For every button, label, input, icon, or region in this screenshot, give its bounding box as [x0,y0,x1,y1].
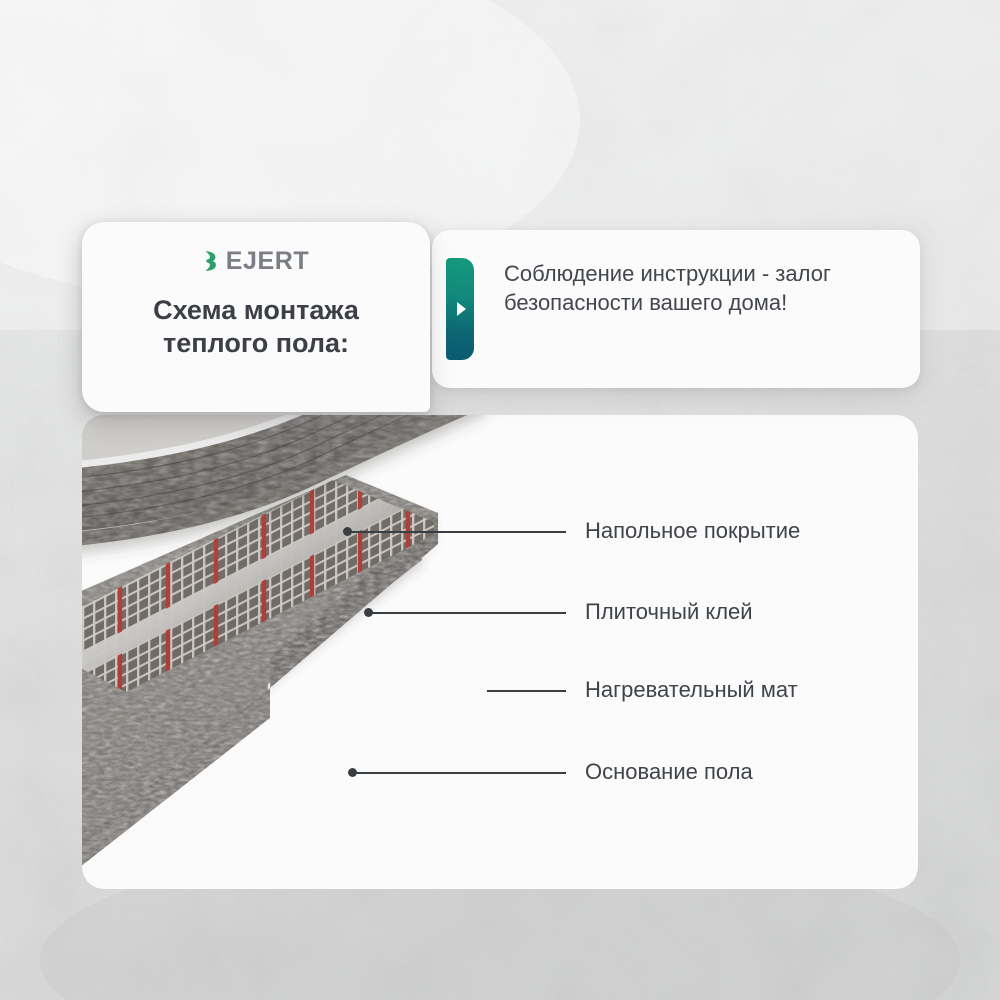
scheme-heading: Схема монтажа теплого пола: [82,294,430,360]
brand-wordmark: EJERT [226,249,310,274]
background-streaks [0,0,1000,1000]
poster-canvas: МОНТАЖ [0,0,1000,1000]
safety-notice-card: Соблюдение инструкции - залог безопаснос… [432,230,920,388]
notice-accent-bar [446,258,474,360]
safety-notice-text: Соблюдение инструкции - залог безопаснос… [504,260,898,317]
play-triangle-icon [457,302,466,316]
scheme-title-card-body: EJERT Схема монтажа теплого пола: [82,222,430,412]
page-title: МОНТАЖ [84,66,415,138]
brand-logo: EJERT [82,248,430,274]
